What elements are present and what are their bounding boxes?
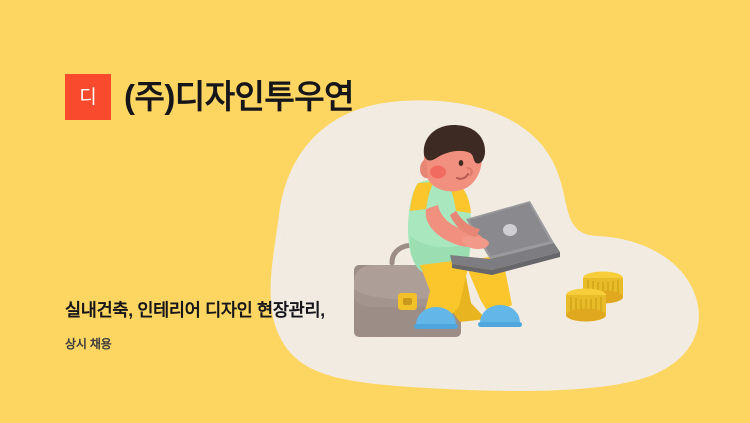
coin-stack-left xyxy=(566,289,606,322)
job-copy-block: 실내건축, 인테리어 디자인 현장관리, 상시 채용 xyxy=(65,300,325,351)
job-subline: 상시 채용 xyxy=(65,337,325,351)
coin-stack-icon xyxy=(566,272,623,322)
company-header: 디 (주)디자인투우연 xyxy=(65,74,354,120)
company-logo-badge-label: 디 xyxy=(79,88,96,107)
person-head xyxy=(420,125,485,191)
illustration-man-with-laptop xyxy=(340,125,660,340)
company-name: (주)디자인투우연 xyxy=(124,80,354,115)
job-headline: 실내건축, 인테리어 디자인 현장관리, xyxy=(65,300,325,322)
job-posting-banner: 디 (주)디자인투우연 실내건축, 인테리어 디자인 현장관리, 상시 채용 xyxy=(0,0,750,423)
company-logo-badge: 디 xyxy=(65,74,111,120)
